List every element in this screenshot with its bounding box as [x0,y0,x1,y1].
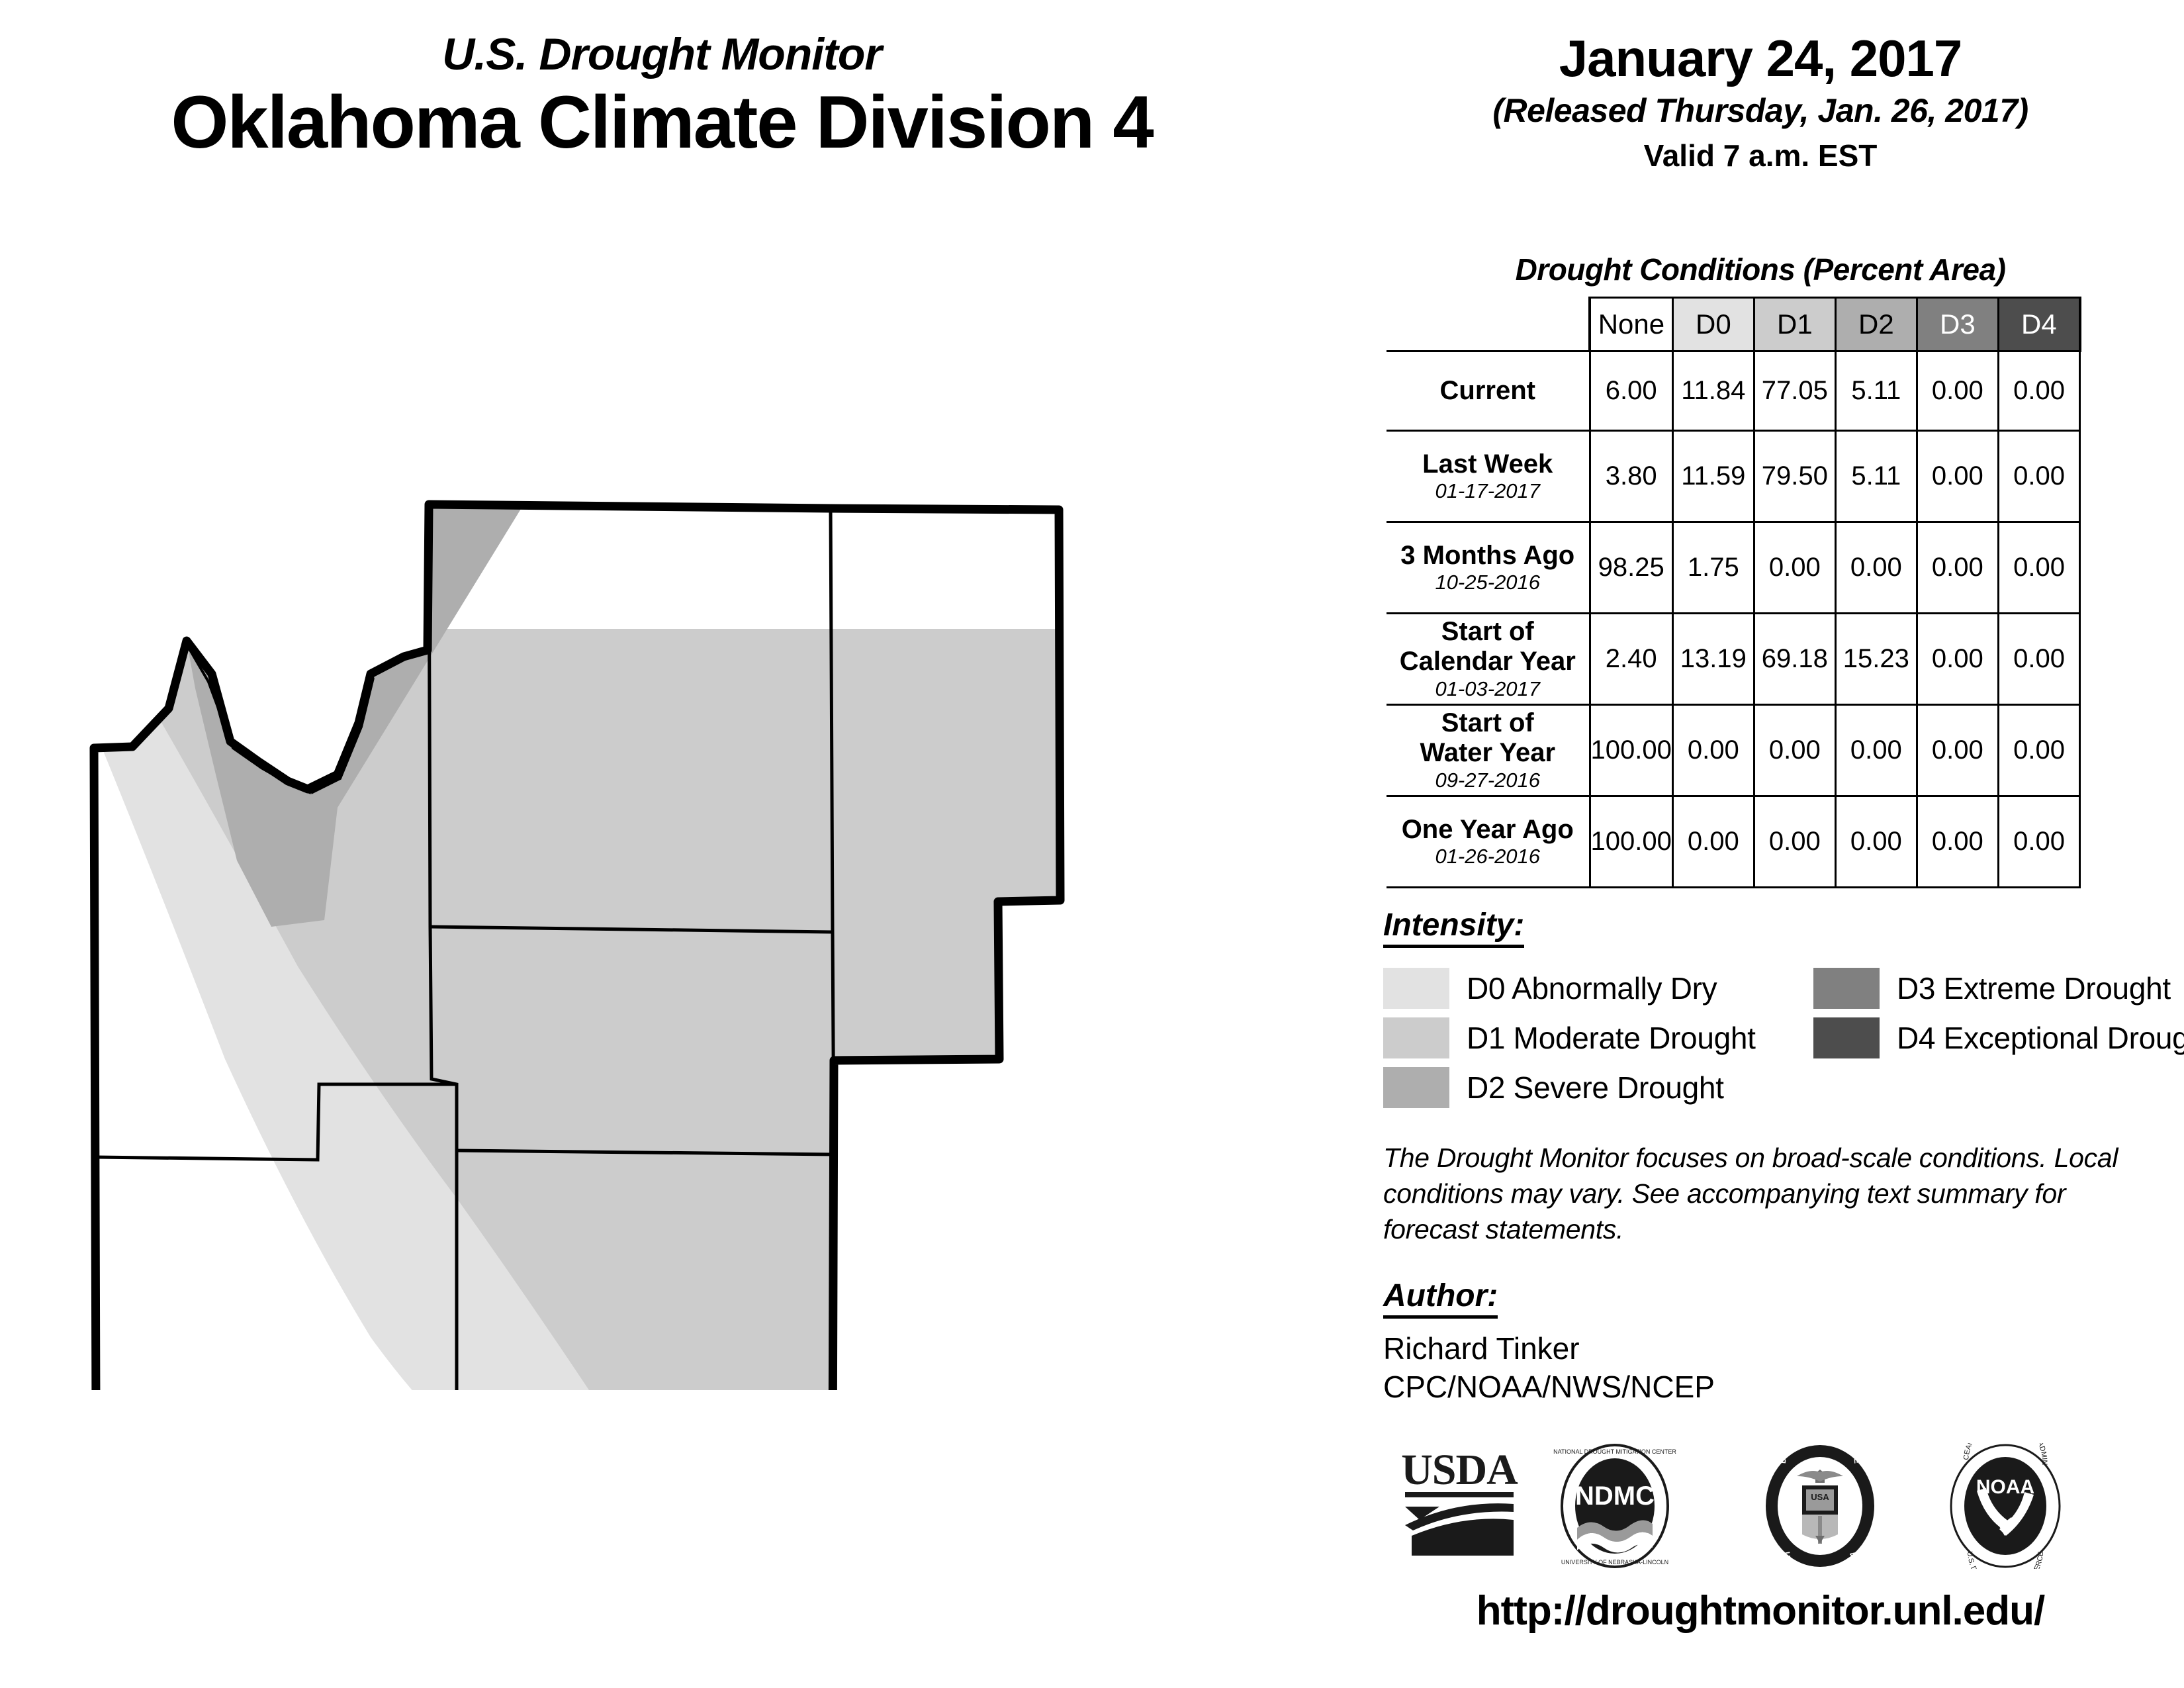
legend-item-d1: D1 Moderate Drought [1383,1017,1756,1058]
valid-time: Valid 7 a.m. EST [1363,138,2158,174]
svg-text:NATIONAL DROUGHT MITIGATION CE: NATIONAL DROUGHT MITIGATION CENTER [1553,1448,1676,1455]
released-date: (Released Thursday, Jan. 26, 2017) [1363,90,2158,132]
svg-text:★: ★ [1778,1501,1788,1512]
table-body: Current6.0011.8477.055.110.000.00Last We… [1387,352,2080,888]
table-header: None D0 D1 D2 D3 D4 [1387,298,2080,352]
row-label-date: 01-26-2016 [1387,844,1589,868]
column-header-d3: D3 [1917,298,1998,352]
column-header-d2: D2 [1835,298,1917,352]
legend-swatch-d0 [1383,968,1449,1009]
cell-d0: 11.59 [1672,431,1754,522]
legend-item-d4: D4 Exceptional Drought [1813,1017,2184,1058]
table-caption: Drought Conditions (Percent Area) [1363,252,2158,287]
legend-item-d2: D2 Severe Drought [1383,1067,1724,1108]
row-label-cell: Start ofCalendar Year01-03-2017 [1387,614,1590,705]
author-organization: CPC/NOAA/NWS/NCEP [1383,1369,1715,1405]
row-label-cell: Last Week01-17-2017 [1387,431,1590,522]
map-svg[interactable] [60,463,1330,1390]
legend-label-d1: D1 Moderate Drought [1467,1020,1756,1056]
cell-none: 100.00 [1590,705,1672,796]
cell-d0: 0.00 [1672,705,1754,796]
row-label-cell: 3 Months Ago10-25-2016 [1387,522,1590,614]
page-title: Oklahoma Climate Division 4 [0,83,1324,162]
row-label-date: 10-25-2016 [1387,570,1589,594]
drought-monitor-url[interactable]: http://droughtmonitor.unl.edu/ [1363,1587,2158,1634]
valid-date: January 24, 2017 [1363,32,2158,86]
table-header-row: None D0 D1 D2 D3 D4 [1387,298,2080,352]
department-of-commerce-seal: DEPARTMENT OF COMMERCE UNITED STATES OF … [1757,1443,1883,1569]
table-row: Last Week01-17-20173.8011.5979.505.110.0… [1387,431,2080,522]
row-label: Last Week [1387,449,1589,479]
svg-text:UNIVERSITY OF NEBRASKA-LINCOLN: UNIVERSITY OF NEBRASKA-LINCOLN [1561,1559,1668,1566]
intensity-heading: Intensity: [1383,907,1524,948]
row-label-cell: Current [1387,352,1590,431]
cell-d2: 0.00 [1835,705,1917,796]
cell-d4: 0.00 [1998,431,2080,522]
legend-swatch-d2 [1383,1067,1449,1108]
legend-item-d3: D3 Extreme Drought [1813,968,2171,1009]
row-label: Start ofCalendar Year [1387,617,1589,677]
author-name: Richard Tinker [1383,1331,1580,1366]
cell-none: 3.80 [1590,431,1672,522]
program-label: U.S. Drought Monitor [0,32,1324,77]
cell-none: 6.00 [1590,352,1672,431]
column-header-d1: D1 [1754,298,1835,352]
column-header-d0: D0 [1672,298,1754,352]
row-label-date: 01-03-2017 [1387,677,1589,701]
column-header-d4: D4 [1998,298,2080,352]
noaa-logo: NATIONAL OCEANIC AND ATMOSPHERIC ADMINIS… [1942,1443,2068,1569]
svg-text:★: ★ [1854,1501,1863,1512]
cell-d2: 5.11 [1835,352,1917,431]
date-block: January 24, 2017 (Released Thursday, Jan… [1363,32,2158,175]
cell-d1: 69.18 [1754,614,1835,705]
cell-d3: 0.00 [1917,796,1998,888]
legend-swatch-d4 [1813,1017,1880,1058]
row-label-date: 01-17-2017 [1387,479,1589,503]
table-row: One Year Ago01-26-2016100.000.000.000.00… [1387,796,2080,888]
cell-d4: 0.00 [1998,614,2080,705]
disclaimer-text: The Drought Monitor focuses on broad-sca… [1383,1140,2131,1247]
cell-d2: 5.11 [1835,431,1917,522]
cell-d2: 0.00 [1835,522,1917,614]
ndmc-logo: NDMC NATIONAL DROUGHT MITIGATION CENTER … [1552,1443,1678,1569]
cell-d3: 0.00 [1917,352,1998,431]
cell-d3: 0.00 [1917,705,1998,796]
cell-d0: 11.84 [1672,352,1754,431]
row-label: 3 Months Ago [1387,541,1589,571]
cell-d3: 0.00 [1917,522,1998,614]
legend-label-d0: D0 Abnormally Dry [1467,970,1717,1006]
legend-label-d3: D3 Extreme Drought [1897,970,2171,1006]
logo-row: USDA NDMC NATIONAL DROUGHT MITIGATION CE… [1387,1443,2121,1569]
row-label: Current [1387,376,1589,406]
row-label-cell: Start ofWater Year09-27-2016 [1387,705,1590,796]
cell-d0: 0.00 [1672,796,1754,888]
cell-none: 98.25 [1590,522,1672,614]
cell-d2: 15.23 [1835,614,1917,705]
drought-conditions-table: None D0 D1 D2 D3 D4 Current6.0011.8477.0… [1387,297,2081,888]
column-header-none: None [1590,298,1672,352]
row-label: One Year Ago [1387,815,1589,845]
legend-label-d4: D4 Exceptional Drought [1897,1020,2184,1056]
map-base-layer [60,463,1330,1390]
row-label-cell: One Year Ago01-26-2016 [1387,796,1590,888]
row-label-date: 09-27-2016 [1387,768,1589,792]
legend-item-d0: D0 Abnormally Dry [1383,968,1717,1009]
author-heading: Author: [1383,1278,1498,1319]
cell-d1: 0.00 [1754,522,1835,614]
cell-d1: 0.00 [1754,705,1835,796]
table-row: Current6.0011.8477.055.110.000.00 [1387,352,2080,431]
cell-d0: 13.19 [1672,614,1754,705]
legend-swatch-d3 [1813,968,1880,1009]
cell-d0: 1.75 [1672,522,1754,614]
cell-none: 2.40 [1590,614,1672,705]
cell-d4: 0.00 [1998,705,2080,796]
table-row: 3 Months Ago10-25-201698.251.750.000.000… [1387,522,2080,614]
svg-text:NDMC: NDMC [1575,1481,1655,1511]
cell-d1: 0.00 [1754,796,1835,888]
usda-logo: USDA [1393,1443,1525,1562]
cell-d1: 77.05 [1754,352,1835,431]
cell-d2: 0.00 [1835,796,1917,888]
cell-d3: 0.00 [1917,614,1998,705]
table-row: Start ofCalendar Year01-03-20172.4013.19… [1387,614,2080,705]
svg-text:USA: USA [1811,1492,1829,1502]
legend-swatch-d1 [1383,1017,1449,1058]
title-block: U.S. Drought Monitor Oklahoma Climate Di… [0,32,1324,162]
table-row: Start ofWater Year09-27-2016100.000.000.… [1387,705,2080,796]
cell-d4: 0.00 [1998,796,2080,888]
cell-d4: 0.00 [1998,522,2080,614]
header-blank-corner [1387,298,1590,352]
cell-d3: 0.00 [1917,431,1998,522]
legend-label-d2: D2 Severe Drought [1467,1070,1724,1105]
cell-d4: 0.00 [1998,352,2080,431]
drought-map[interactable] [60,463,1330,1390]
svg-text:USDA: USDA [1401,1446,1518,1494]
cell-d1: 79.50 [1754,431,1835,522]
cell-none: 100.00 [1590,796,1672,888]
row-label: Start ofWater Year [1387,708,1589,768]
